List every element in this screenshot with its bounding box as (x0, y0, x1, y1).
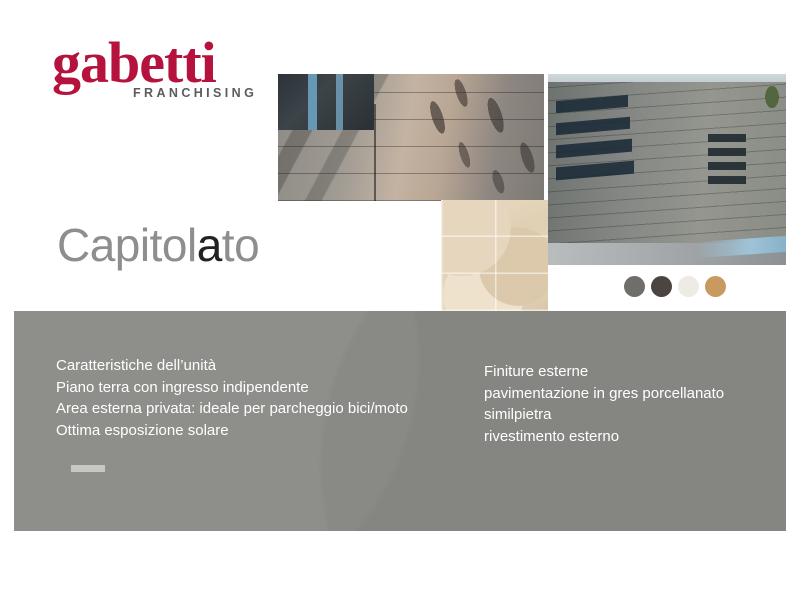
photo-right-slot-3 (708, 162, 746, 170)
photo-right-slot-1 (708, 134, 746, 142)
photo-clad-facade (548, 74, 786, 265)
swatch-dark-brown[interactable] (651, 276, 672, 297)
spec-right-line: similpietra (484, 404, 724, 426)
panel-divider-dash (71, 465, 105, 472)
swatch-tan-wood[interactable] (705, 276, 726, 297)
spec-right-line: rivestimento esterno (484, 426, 724, 448)
spec-column-right: Finiture esterne pavimentazione in gres … (484, 361, 724, 447)
spec-left-line: Piano terra con ingresso indipendente (56, 377, 408, 399)
photo-left-corner-edge (374, 104, 376, 201)
spec-left-line: Caratteristiche dell’unità (56, 355, 408, 377)
specifications-panel: Caratteristiche dell’unità Piano terra c… (14, 311, 786, 531)
page-title: Capitolato (57, 219, 259, 271)
photo-stone-tiles (441, 200, 548, 311)
spec-right-line: pavimentazione in gres porcellanato (484, 383, 724, 405)
photo-left-blue-strip-2 (336, 74, 343, 130)
photo-left-background-scaffold (278, 74, 374, 130)
slide-canvas: gabetti FRANCHISING Capitolato (0, 0, 800, 600)
photo-left-leaf-shadows (407, 74, 544, 201)
spec-column-left: Caratteristiche dell’unità Piano terra c… (56, 355, 408, 441)
photo-left-blue-strip-1 (308, 74, 317, 130)
photo-right-tree (764, 84, 780, 110)
title-part-light: Capitol (57, 219, 197, 271)
swatch-grey-stone[interactable] (624, 276, 645, 297)
spec-left-line: Area esterna privata: ideale per parcheg… (56, 398, 408, 420)
title-part-dark: a (197, 219, 222, 271)
spec-right-line: Finiture esterne (484, 361, 724, 383)
photo-right-slot-4 (708, 176, 746, 184)
swatch-white-stone[interactable] (678, 276, 699, 297)
gabetti-logo: gabetti FRANCHISING (52, 34, 282, 104)
logo-tagline: FRANCHISING (133, 86, 257, 100)
logo-wordmark: gabetti (52, 34, 282, 92)
title-part-light-end: to (222, 219, 259, 271)
material-swatch-row (624, 276, 726, 297)
spec-left-line: Ottima esposizione solare (56, 420, 408, 442)
photo-building-corner (278, 74, 544, 201)
photo-right-slot-2 (708, 148, 746, 156)
